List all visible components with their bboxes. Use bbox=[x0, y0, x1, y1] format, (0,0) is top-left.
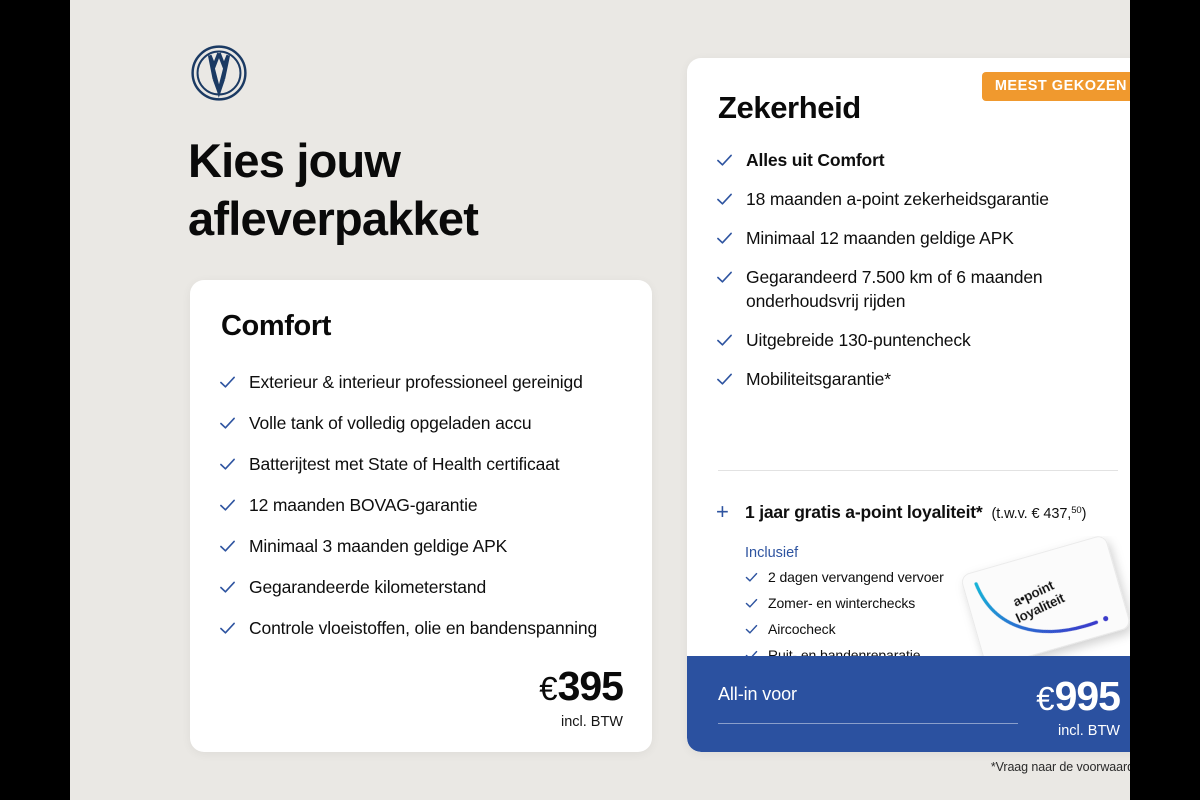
letterbox-band-left bbox=[0, 0, 70, 800]
feature-text: Minimaal 12 maanden geldige APK bbox=[746, 226, 1014, 250]
list-item: Exterieur & interieur professioneel gere… bbox=[219, 370, 619, 394]
list-item: Gegarandeerd 7.500 km of 6 maanden onder… bbox=[716, 265, 1128, 313]
status-badge-most-chosen: MEEST GEKOZEN bbox=[982, 72, 1140, 101]
page-title: Kies jouwafleverpakket bbox=[188, 132, 658, 248]
package-card-comfort[interactable]: Comfort Exterieur & interieur profession… bbox=[190, 280, 652, 752]
list-item: 2 dagen vervangend vervoer bbox=[745, 568, 1045, 587]
list-item: Aircocheck bbox=[745, 620, 1045, 639]
inclusief-item-text: Zomer- en winterchecks bbox=[768, 594, 915, 613]
check-icon bbox=[219, 620, 236, 637]
check-icon bbox=[745, 597, 758, 610]
feature-text: Minimaal 3 maanden geldige APK bbox=[249, 534, 507, 558]
feature-text: Gegarandeerde kilometerstand bbox=[249, 575, 486, 599]
feature-text: Gegarandeerd 7.500 km of 6 maanden onder… bbox=[746, 265, 1128, 313]
zekerheid-vat-note: incl. BTW bbox=[1036, 723, 1120, 739]
check-icon bbox=[716, 152, 733, 169]
bonus-row: + 1 jaar gratis a-point loyaliteit* (t.w… bbox=[716, 501, 1086, 523]
check-icon bbox=[219, 497, 236, 514]
price-footer-zekerheid: All-in voor €995 incl. BTW bbox=[687, 656, 1151, 752]
check-icon bbox=[219, 538, 236, 555]
list-item: Minimaal 3 maanden geldige APK bbox=[219, 534, 619, 558]
list-item: Zomer- en winterchecks bbox=[745, 594, 1045, 613]
headline-line-2: afleverpakket bbox=[188, 192, 478, 245]
volkswagen-logo bbox=[190, 44, 248, 102]
inclusief-item-text: Aircocheck bbox=[768, 620, 835, 639]
check-icon bbox=[716, 269, 733, 286]
feature-text: Batterijtest met State of Health certifi… bbox=[249, 452, 560, 476]
inclusief-item-text: 2 dagen vervangend vervoer bbox=[768, 568, 944, 587]
comfort-feature-list: Exterieur & interieur professioneel gere… bbox=[219, 370, 619, 657]
list-item: Batterijtest met State of Health certifi… bbox=[219, 452, 619, 476]
list-item: Volle tank of volledig opgeladen accu bbox=[219, 411, 619, 435]
check-icon bbox=[716, 191, 733, 208]
bonus-value: (t.w.v. € 437,50) bbox=[992, 505, 1087, 522]
feature-text: Volle tank of volledig opgeladen accu bbox=[249, 411, 531, 435]
divider bbox=[718, 470, 1118, 471]
headline-line-1: Kies jouw bbox=[188, 134, 400, 187]
list-item: 18 maanden a-point zekerheidsgarantie bbox=[716, 187, 1128, 211]
feature-text: 18 maanden a-point zekerheidsgarantie bbox=[746, 187, 1049, 211]
check-icon bbox=[745, 623, 758, 636]
list-item: Alles uit Comfort bbox=[716, 148, 1128, 172]
price-value: 395 bbox=[558, 663, 623, 709]
feature-text: Exterieur & interieur professioneel gere… bbox=[249, 370, 583, 394]
list-item: Controle vloeistoffen, olie en bandenspa… bbox=[219, 616, 619, 640]
check-icon bbox=[716, 371, 733, 388]
all-in-label: All-in voor bbox=[718, 684, 797, 705]
inclusief-block: Inclusief 2 dagen vervangend vervoer Zom… bbox=[745, 545, 1045, 672]
zekerheid-card-title: Zekerheid bbox=[718, 90, 861, 126]
list-item: Gegarandeerde kilometerstand bbox=[219, 575, 619, 599]
check-icon bbox=[219, 374, 236, 391]
page-canvas: Kies jouwafleverpakket Comfort Exterieur… bbox=[70, 0, 1130, 800]
feature-text: Alles uit Comfort bbox=[746, 148, 884, 172]
letterbox-band-right bbox=[1130, 0, 1200, 800]
package-card-zekerheid[interactable]: MEEST GEKOZEN Zekerheid Alles uit Comfor… bbox=[687, 58, 1151, 752]
bonus-value-suffix: ) bbox=[1082, 506, 1087, 522]
check-icon bbox=[219, 456, 236, 473]
check-icon bbox=[745, 571, 758, 584]
comfort-vat-note: incl. BTW bbox=[539, 714, 623, 730]
inclusief-heading: Inclusief bbox=[745, 545, 1045, 561]
screenshot-stage: Kies jouwafleverpakket Comfort Exterieur… bbox=[0, 0, 1200, 800]
feature-text: Mobiliteitsgarantie* bbox=[746, 367, 891, 391]
comfort-price-block: €395 incl. BTW bbox=[539, 663, 623, 730]
currency-symbol: € bbox=[1036, 680, 1053, 717]
footer-rule bbox=[718, 723, 1018, 724]
bonus-value-cents: 50 bbox=[1071, 505, 1081, 516]
price-value: 995 bbox=[1055, 673, 1120, 719]
feature-text: Uitgebreide 130-puntencheck bbox=[746, 328, 971, 352]
bonus-label: 1 jaar gratis a-point loyaliteit* bbox=[745, 502, 983, 523]
check-icon bbox=[219, 415, 236, 432]
check-icon bbox=[219, 579, 236, 596]
zekerheid-price-amount: €995 bbox=[1036, 673, 1120, 722]
comfort-card-title: Comfort bbox=[221, 310, 331, 343]
list-item: Minimaal 12 maanden geldige APK bbox=[716, 226, 1128, 250]
footnote: *Vraag naar de voorwaarden. bbox=[687, 760, 1151, 774]
currency-symbol: € bbox=[539, 670, 556, 707]
check-icon bbox=[716, 230, 733, 247]
bonus-value-prefix: (t.w.v. € 437, bbox=[992, 506, 1072, 522]
feature-text: 12 maanden BOVAG-garantie bbox=[249, 493, 477, 517]
list-item: Uitgebreide 130-puntencheck bbox=[716, 328, 1128, 352]
plus-icon: + bbox=[716, 502, 733, 522]
zekerheid-price-block: €995 incl. BTW bbox=[1036, 673, 1120, 739]
list-item: Mobiliteitsgarantie* bbox=[716, 367, 1128, 391]
feature-text: Controle vloeistoffen, olie en bandenspa… bbox=[249, 616, 597, 640]
list-item: 12 maanden BOVAG-garantie bbox=[219, 493, 619, 517]
check-icon bbox=[716, 332, 733, 349]
zekerheid-feature-list: Alles uit Comfort 18 maanden a-point zek… bbox=[716, 148, 1128, 406]
comfort-price-amount: €395 bbox=[539, 663, 623, 712]
